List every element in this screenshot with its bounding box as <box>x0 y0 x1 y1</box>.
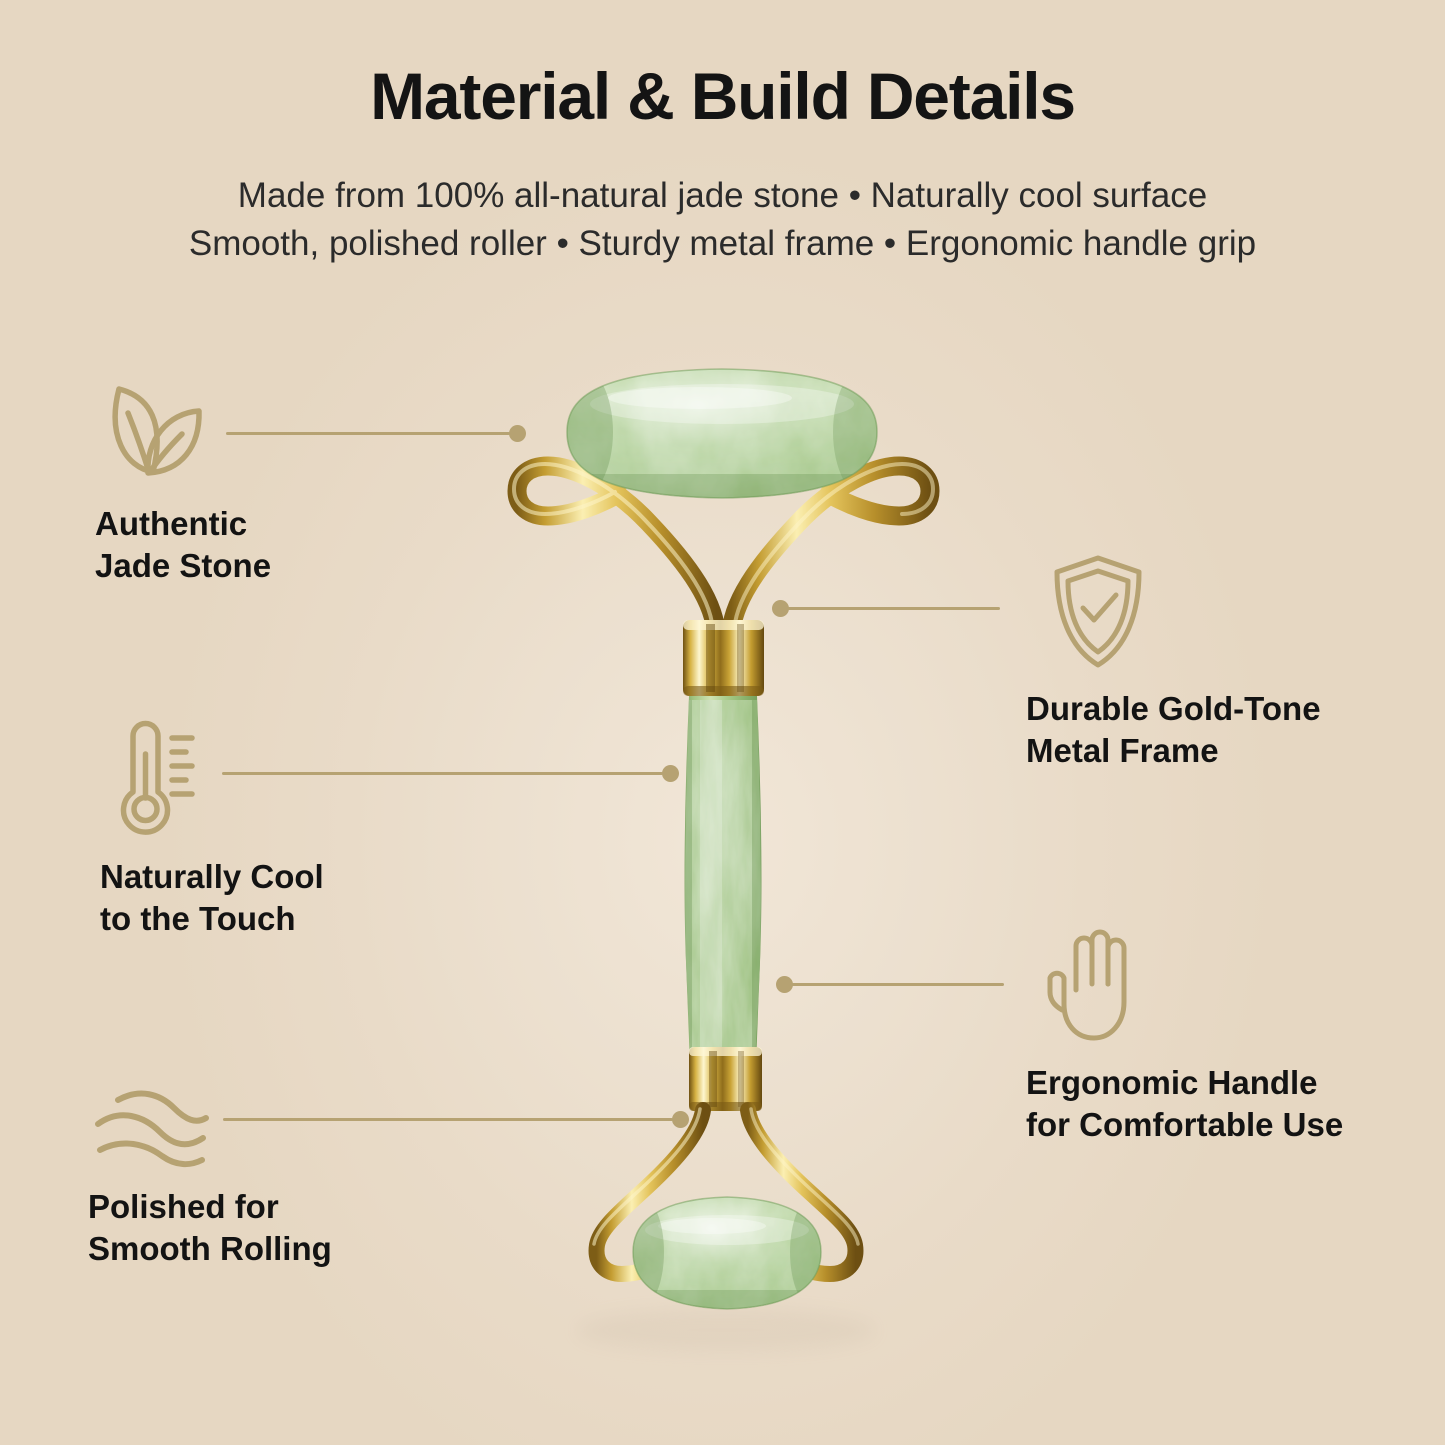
small-jade-roller-head <box>616 1190 838 1320</box>
leaf-icon <box>95 375 213 487</box>
page-title: Material & Build Details <box>0 62 1445 131</box>
feature-durable-metal-frame: Durable Gold-Tone Metal Frame <box>1026 552 1321 772</box>
feature-polished-smooth-rolling: Polished for Smooth Rolling <box>88 1082 332 1270</box>
hand-palm-icon <box>1046 928 1142 1046</box>
connector-dot <box>509 425 526 442</box>
feature-naturally-cool: Naturally Cool to the Touch <box>100 718 324 940</box>
feature-label-line-2: Jade Stone <box>95 545 271 587</box>
gold-wire-frame-bottom <box>594 1109 858 1274</box>
connector-durable-metal-frame <box>772 599 1002 617</box>
connector-line <box>784 607 1000 610</box>
page-subtitle: Made from 100% all-natural jade stone • … <box>0 172 1445 267</box>
feature-label-line-1: Authentic <box>95 503 271 545</box>
feature-label-line-1: Naturally Cool <box>100 856 324 898</box>
feature-label-line-2: for Comfortable Use <box>1026 1104 1343 1146</box>
feature-label: Durable Gold-Tone Metal Frame <box>1026 688 1321 772</box>
feature-ergonomic-handle: Ergonomic Handle for Comfortable Use <box>1026 928 1343 1146</box>
large-jade-roller-head <box>541 360 905 510</box>
connector-line <box>788 983 1004 986</box>
gold-ferrule-top <box>683 620 764 696</box>
feature-label-line-2: Smooth Rolling <box>88 1228 332 1270</box>
product-shadow <box>576 1308 876 1352</box>
feature-authentic-jade-stone: Authentic Jade Stone <box>95 375 271 587</box>
jade-handle <box>680 690 766 1070</box>
feature-label: Authentic Jade Stone <box>95 503 271 587</box>
gold-ferrule-bottom <box>689 1047 762 1111</box>
feature-label: Ergonomic Handle for Comfortable Use <box>1026 1062 1343 1146</box>
feature-label: Polished for Smooth Rolling <box>88 1186 332 1270</box>
feature-label-line-2: Metal Frame <box>1026 730 1321 772</box>
connector-dot <box>662 765 679 782</box>
waves-icon <box>88 1082 213 1170</box>
subtitle-line-2: Smooth, polished roller • Sturdy metal f… <box>0 220 1445 268</box>
feature-label-line-1: Polished for <box>88 1186 332 1228</box>
feature-label: Naturally Cool to the Touch <box>100 856 324 940</box>
infographic-canvas: Material & Build Details Made from 100% … <box>0 0 1445 1445</box>
feature-label-line-2: to the Touch <box>100 898 324 940</box>
shield-check-icon <box>1048 552 1148 672</box>
feature-label-line-1: Durable Gold-Tone <box>1026 688 1321 730</box>
feature-label-line-1: Ergonomic Handle <box>1026 1062 1343 1104</box>
subtitle-line-1: Made from 100% all-natural jade stone • … <box>0 172 1445 220</box>
connector-ergonomic-handle <box>776 975 1006 993</box>
connector-dot <box>672 1111 689 1128</box>
thermometer-icon <box>100 718 212 840</box>
